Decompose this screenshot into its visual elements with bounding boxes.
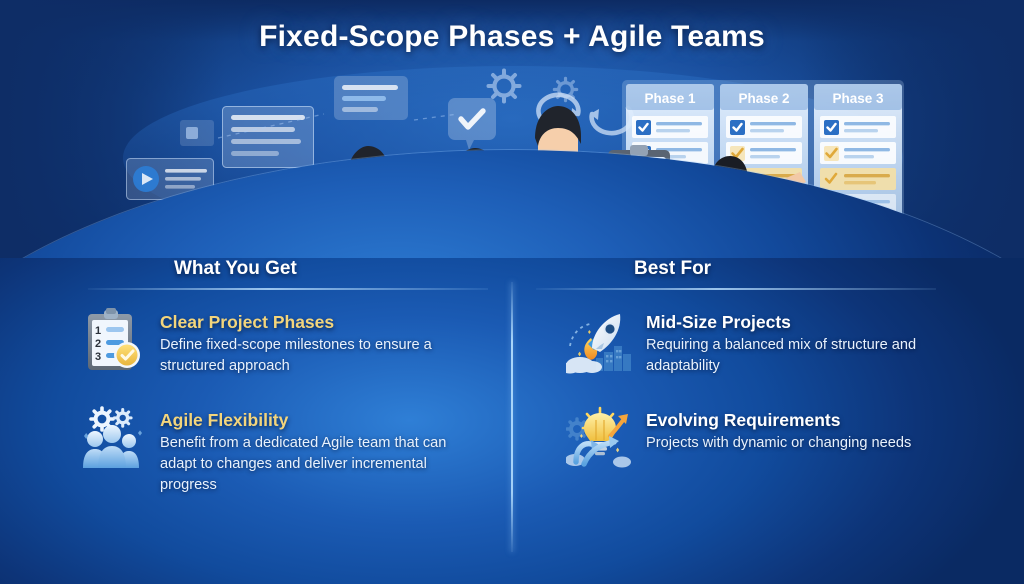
feature-item-agile-flexibility: Agile Flexibility Benefit from a dedicat… (80, 408, 480, 496)
svg-text:1: 1 (95, 325, 101, 337)
rocket-launch-icon (566, 308, 632, 374)
heading-underline-left (88, 288, 488, 290)
heading-underline-right (536, 288, 936, 290)
clipboard-checklist-icon: 123 (80, 308, 146, 374)
page-title: Fixed-Scope Phases + Agile Teams (0, 20, 1024, 54)
feature-item-mid-size-projects: Mid-Size Projects Requiring a balanced m… (566, 310, 946, 377)
feature-item-clear-project-phases: 123 Clear Project Phases Define fixed-sc… (80, 310, 480, 377)
feature-heading: Evolving Requirements (646, 410, 911, 431)
feature-text: Mid-Size Projects Requiring a balanced m… (646, 310, 946, 377)
board-row (820, 168, 896, 190)
board-row (820, 142, 896, 164)
column-divider (511, 282, 513, 552)
board-row (726, 116, 802, 138)
feature-body: Define fixed-scope milestones to ensure … (160, 335, 480, 377)
list-card (334, 76, 408, 120)
feature-heading: Clear Project Phases (160, 312, 480, 333)
feature-item-evolving-requirements: Evolving Requirements Projects with dyna… (566, 408, 911, 472)
board-column-label: Phase 1 (644, 91, 696, 106)
column-heading-best-for: Best For (634, 258, 711, 280)
feature-text: Agile Flexibility Benefit from a dedicat… (160, 408, 480, 496)
board-column-label: Phase 3 (832, 91, 884, 106)
feature-heading: Agile Flexibility (160, 410, 480, 431)
thumbnail-tile (180, 120, 214, 146)
column-heading-what-you-get: What You Get (174, 258, 297, 280)
board-column-label: Phase 2 (738, 91, 789, 106)
board-row (632, 116, 708, 138)
feature-heading: Mid-Size Projects (646, 312, 946, 333)
infographic-slide: Phase 1 (0, 0, 1024, 584)
feature-body: Projects with dynamic or changing needs (646, 433, 911, 454)
board-row (820, 116, 896, 138)
gear-icon (114, 410, 131, 427)
feature-text: Evolving Requirements Projects with dyna… (646, 408, 911, 454)
svg-text:3: 3 (95, 351, 101, 363)
feature-body: Requiring a balanced mix of structure an… (646, 335, 946, 377)
feature-text: Clear Project Phases Define fixed-scope … (160, 310, 480, 377)
feature-body: Benefit from a dedicated Agile team that… (160, 433, 480, 496)
team-gears-icon (80, 406, 146, 472)
svg-text:2: 2 (95, 338, 101, 350)
lightbulb-arrows-icon (566, 406, 632, 472)
document-card (222, 106, 314, 168)
